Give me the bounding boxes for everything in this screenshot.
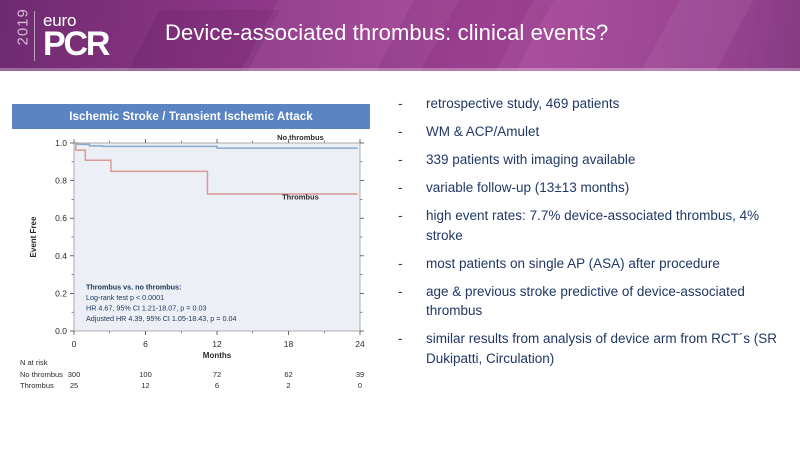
x-tick-label: 0 [72,339,77,349]
risk-row-value: 300 [68,370,81,379]
logo-pcr-text: PCR [43,27,108,61]
bullet-marker-icon: - [398,178,426,197]
list-item: -retrospective study, 469 patients [398,94,792,114]
logo-year: 2019 [15,27,32,45]
y-tick-label: 0.2 [55,288,67,298]
bullet-text: 339 patients with imaging available [426,150,792,170]
risk-row-value: 25 [70,381,78,390]
bullet-text: retrospective study, 469 patients [426,94,792,114]
bullet-text: high event rates: 7.7% device-associated… [426,206,792,245]
bullet-text: age & previous stroke predictive of devi… [426,282,792,321]
risk-table-heading: N at risk [20,358,48,367]
bullet-text: similar results from analysis of device … [426,329,792,368]
chart-svg: 0.00.20.40.60.81.006121824MonthsEvent Fr… [12,129,370,404]
risk-row-label: Thrombus [20,381,54,390]
y-tick-label: 1.0 [55,138,67,148]
risk-row-value: 62 [284,370,292,379]
risk-row-value: 2 [286,381,290,390]
slide-header: 2019 euro PCR Device-associated thrombus… [0,0,800,71]
page-title: Device-associated thrombus: clinical eve… [165,20,608,46]
chart-annotation-line: Adjusted HR 4.39, 95% CI 1.05-18.43, p =… [86,314,236,323]
risk-row-value: 12 [141,381,149,390]
bullet-list: -retrospective study, 469 patients-WM & … [398,94,792,377]
risk-row-value: 72 [213,370,221,379]
x-axis-title: Months [203,351,232,360]
bullet-marker-icon: - [398,206,426,225]
chart-annotation-line: HR 4.67, 95% CI 1.21-18.07, p = 0.03 [86,304,206,313]
risk-row-value: 6 [215,381,219,390]
x-tick-label: 12 [212,339,222,349]
chart-title: Ischemic Stroke / Transient Ischemic Att… [12,104,370,129]
bullet-marker-icon: - [398,329,426,348]
curve-label: Thrombus [282,193,319,202]
bullet-text: most patients on single AP (ASA) after p… [426,254,792,274]
logo-divider [34,11,35,61]
list-item: -WM & ACP/Amulet [398,122,792,142]
list-item: -variable follow-up (13±13 months) [398,178,792,198]
bullet-marker-icon: - [398,282,426,301]
y-tick-label: 0.8 [55,176,67,186]
y-axis-title: Event Free [29,216,38,257]
y-tick-label: 0.4 [55,251,67,261]
header-underline [0,68,800,71]
logo-wordmark: euro PCR [43,12,108,61]
bullet-marker-icon: - [398,150,426,169]
bullet-marker-icon: - [398,94,426,113]
list-item: -similar results from analysis of device… [398,329,792,368]
bullet-text: WM & ACP/Amulet [426,122,792,142]
x-tick-label: 6 [143,339,148,349]
x-tick-label: 18 [284,339,294,349]
risk-row-value: 100 [139,370,152,379]
chart-annotation-line: Thrombus vs. no thrombus: [86,283,181,292]
list-item: -most patients on single AP (ASA) after … [398,254,792,274]
bullet-marker-icon: - [398,122,426,141]
risk-row-value: 0 [358,381,362,390]
y-tick-label: 0.6 [55,213,67,223]
bullet-marker-icon: - [398,254,426,273]
curve-label: No thrombus [277,133,324,142]
bullet-text: variable follow-up (13±13 months) [426,178,792,198]
list-item: -339 patients with imaging available [398,150,792,170]
y-tick-label: 0.0 [55,326,67,336]
list-item: -high event rates: 7.7% device-associate… [398,206,792,245]
list-item: -age & previous stroke predictive of dev… [398,282,792,321]
risk-row-value: 39 [356,370,364,379]
kaplan-meier-chart: Ischemic Stroke / Transient Ischemic Att… [12,104,370,404]
chart-annotation-line: Log-rank test p < 0.0001 [86,293,164,302]
europcr-logo: 2019 euro PCR [14,8,108,64]
x-tick-label: 24 [355,339,365,349]
risk-row-label: No thrombus [20,370,63,379]
chart-plot-area: 0.00.20.40.60.81.006121824MonthsEvent Fr… [12,129,370,404]
